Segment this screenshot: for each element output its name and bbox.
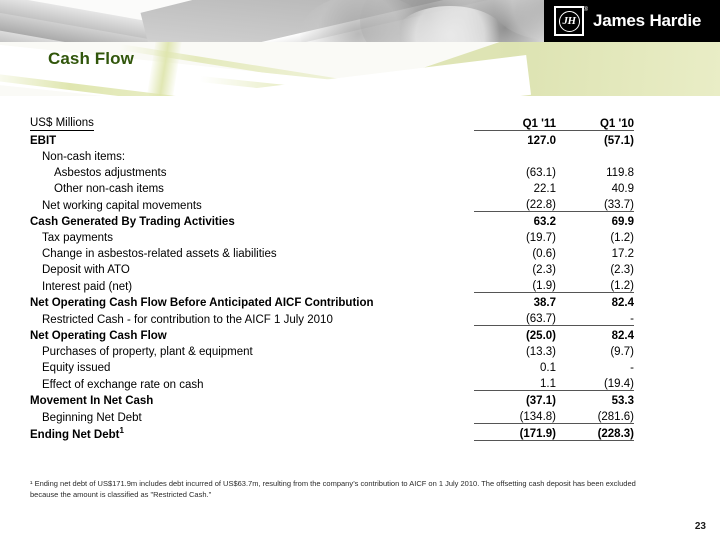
row-label: Tax payments <box>30 228 474 244</box>
footnote-marker: 1 <box>119 426 123 435</box>
row-label: Beginning Net Debt <box>30 407 474 424</box>
jh-monogram-letters: JH <box>562 16 575 27</box>
unit-label: US$ Millions <box>30 117 94 131</box>
table-row: EBIT127.0(57.1) <box>30 131 634 148</box>
table-row: Asbestos adjustments(63.1)119.8 <box>30 163 634 179</box>
slide-body: US$ Millions Q1 '11 Q1 '10 EBIT127.0(57.… <box>0 96 720 540</box>
row-value-q1-11: (134.8) <box>474 407 556 424</box>
table-header-row: US$ Millions Q1 '11 Q1 '10 <box>30 110 634 131</box>
row-value-q1-11: (19.7) <box>474 228 556 244</box>
company-logo: JH ® James Hardie <box>544 0 720 42</box>
row-label: Non-cash items: <box>30 147 474 163</box>
table-row: Interest paid (net)(1.9)(1.2) <box>30 276 634 293</box>
table-row: Beginning Net Debt(134.8)(281.6) <box>30 407 634 424</box>
row-value-q1-11: 0.1 <box>474 358 556 374</box>
registered-trademark-icon: ® <box>584 7 588 13</box>
table-row: Movement In Net Cash(37.1)53.3 <box>30 391 634 408</box>
cash-flow-table-body: US$ Millions Q1 '11 Q1 '10 <box>30 110 634 131</box>
table-row: Ending Net Debt1(171.9)(228.3) <box>30 424 634 441</box>
row-label: Cash Generated By Trading Activities <box>30 212 474 229</box>
row-label: Change in asbestos-related assets & liab… <box>30 244 474 260</box>
row-value-q1-11: (0.6) <box>474 244 556 260</box>
row-value-q1-10: (2.3) <box>556 260 634 276</box>
slide-header-banner: JH ® James Hardie Cash Flow <box>0 0 720 96</box>
page-title: Cash Flow <box>48 49 134 69</box>
row-value-q1-10: (1.2) <box>556 228 634 244</box>
row-value-q1-10: 82.4 <box>556 293 634 310</box>
column-header-q1-10: Q1 '10 <box>556 110 634 131</box>
table-row: Restricted Cash - for contribution to th… <box>30 309 634 326</box>
table-row: Equity issued0.1- <box>30 358 634 374</box>
table-row: Deposit with ATO(2.3)(2.3) <box>30 260 634 276</box>
row-label: Other non-cash items <box>30 179 474 195</box>
footnote: ¹ Ending net debt of US$171.9m includes … <box>30 478 640 501</box>
row-value-q1-10: 40.9 <box>556 179 634 195</box>
row-value-q1-11: (63.7) <box>474 309 556 326</box>
row-value-q1-10: - <box>556 358 634 374</box>
row-value-q1-11: (25.0) <box>474 326 556 343</box>
row-value-q1-10: 69.9 <box>556 212 634 229</box>
row-value-q1-10: (57.1) <box>556 131 634 148</box>
row-value-q1-11: (22.8) <box>474 195 556 212</box>
row-value-q1-11: (1.9) <box>474 276 556 293</box>
row-label: Interest paid (net) <box>30 276 474 293</box>
row-label: Effect of exchange rate on cash <box>30 374 474 391</box>
row-value-q1-11: 38.7 <box>474 293 556 310</box>
table-row: Cash Generated By Trading Activities63.2… <box>30 212 634 229</box>
row-value-q1-10: 53.3 <box>556 391 634 408</box>
row-value-q1-11: 63.2 <box>474 212 556 229</box>
row-value-q1-10: - <box>556 309 634 326</box>
table-row: Net Operating Cash Flow Before Anticipat… <box>30 293 634 310</box>
row-value-q1-10: (1.2) <box>556 276 634 293</box>
table-row: Net working capital movements(22.8)(33.7… <box>30 195 634 212</box>
table-row: Other non-cash items22.140.9 <box>30 179 634 195</box>
row-value-q1-10: 82.4 <box>556 326 634 343</box>
row-value-q1-11: (13.3) <box>474 342 556 358</box>
cash-flow-rows: EBIT127.0(57.1)Non-cash items:Asbestos a… <box>30 131 634 441</box>
row-label: Net Operating Cash Flow <box>30 326 474 343</box>
row-value-q1-11 <box>474 147 556 163</box>
row-value-q1-11: 22.1 <box>474 179 556 195</box>
company-name-label: James Hardie <box>593 11 701 31</box>
row-label: Purchases of property, plant & equipment <box>30 342 474 358</box>
row-label: Deposit with ATO <box>30 260 474 276</box>
row-value-q1-11: 127.0 <box>474 131 556 148</box>
table-row: Net Operating Cash Flow(25.0)82.4 <box>30 326 634 343</box>
cash-flow-table: US$ Millions Q1 '11 Q1 '10 EBIT127.0(57.… <box>30 110 634 441</box>
table-row: Tax payments(19.7)(1.2) <box>30 228 634 244</box>
row-label: Net working capital movements <box>30 195 474 212</box>
row-value-q1-11: (37.1) <box>474 391 556 408</box>
row-value-q1-10: (228.3) <box>556 424 634 441</box>
row-label: Ending Net Debt1 <box>30 424 474 441</box>
table-row: Non-cash items: <box>30 147 634 163</box>
row-value-q1-10: (281.6) <box>556 407 634 424</box>
row-label: Net Operating Cash Flow Before Anticipat… <box>30 293 474 310</box>
row-value-q1-10 <box>556 147 634 163</box>
row-label: Equity issued <box>30 358 474 374</box>
row-label: Restricted Cash - for contribution to th… <box>30 309 474 326</box>
column-header-q1-11: Q1 '11 <box>474 110 556 131</box>
row-value-q1-10: (9.7) <box>556 342 634 358</box>
unit-label-cell: US$ Millions <box>30 110 474 131</box>
row-value-q1-10: 119.8 <box>556 163 634 179</box>
row-value-q1-11: (2.3) <box>474 260 556 276</box>
row-value-q1-11: (171.9) <box>474 424 556 441</box>
row-value-q1-11: 1.1 <box>474 374 556 391</box>
row-value-q1-10: (33.7) <box>556 195 634 212</box>
row-value-q1-10: 17.2 <box>556 244 634 260</box>
row-value-q1-10: (19.4) <box>556 374 634 391</box>
table-row: Change in asbestos-related assets & liab… <box>30 244 634 260</box>
row-value-q1-11: (63.1) <box>474 163 556 179</box>
table-row: Effect of exchange rate on cash1.1(19.4) <box>30 374 634 391</box>
row-label: Asbestos adjustments <box>30 163 474 179</box>
jh-monogram-icon: JH ® <box>554 6 584 36</box>
row-label: Movement In Net Cash <box>30 391 474 408</box>
table-row: Purchases of property, plant & equipment… <box>30 342 634 358</box>
row-label: EBIT <box>30 131 474 148</box>
page-number: 23 <box>695 521 706 532</box>
jh-monogram-circle: JH <box>559 11 580 32</box>
